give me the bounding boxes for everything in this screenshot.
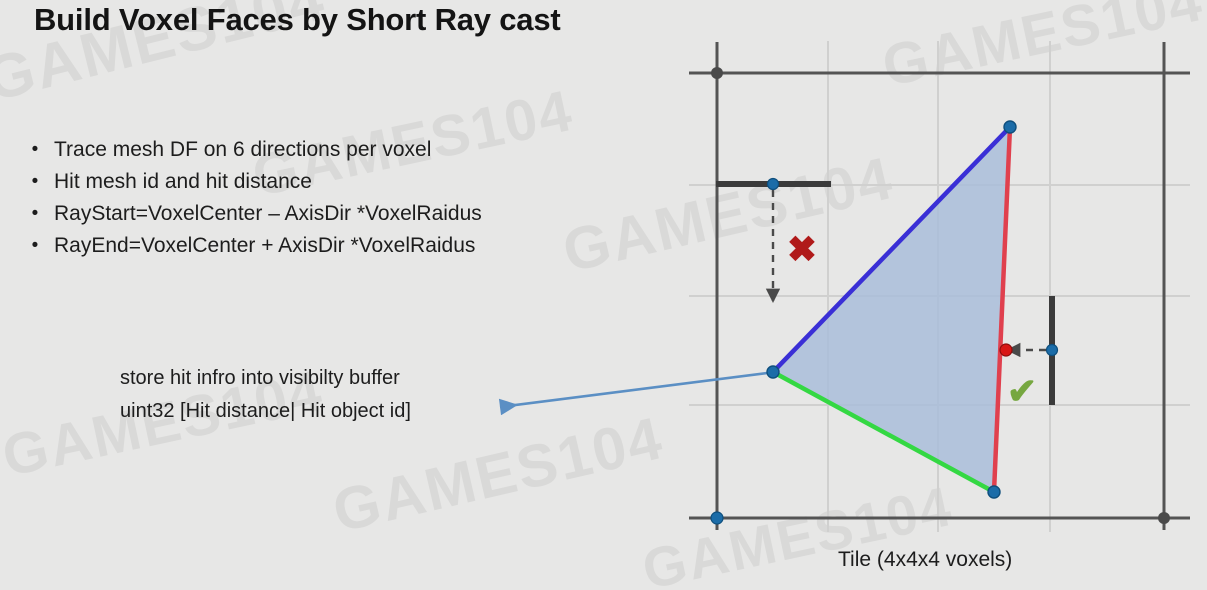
visibility-buffer-arrow bbox=[500, 372, 775, 407]
diagram-caption: Tile (4x4x4 voxels) bbox=[838, 548, 1012, 572]
voxel-tile-diagram: ✖✔ bbox=[0, 0, 1207, 590]
tile-corner-dot-bottom-right bbox=[1158, 512, 1170, 524]
triangle-vertex-dot bbox=[767, 366, 779, 378]
reject-x-icon: ✖ bbox=[787, 229, 817, 270]
tile-corner-dot-top-left bbox=[711, 67, 723, 79]
accept-check-icon: ✔ bbox=[1007, 371, 1037, 412]
voxel-center-dot-miss bbox=[768, 179, 779, 190]
tile-corner-dot-bottom-left bbox=[711, 512, 723, 524]
triangle-vertex-dot bbox=[988, 486, 1000, 498]
voxel-center-dot-hit bbox=[1047, 345, 1058, 356]
triangle-vertex-dot bbox=[1004, 121, 1016, 133]
hit-point-dot bbox=[1000, 344, 1012, 356]
